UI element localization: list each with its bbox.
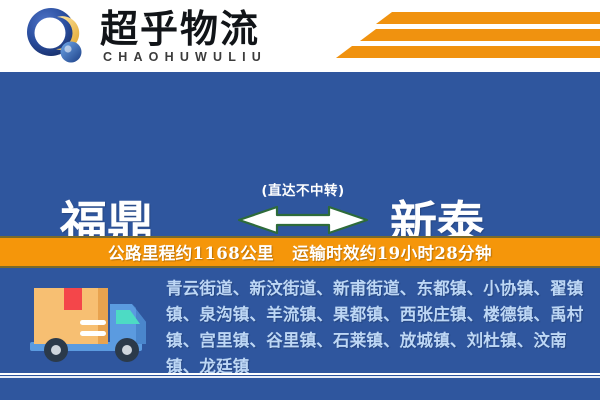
- header-bar: 超乎物流 CHAOHUWULIU: [0, 0, 600, 72]
- brand-name-en: CHAOHUWULIU: [103, 50, 267, 64]
- distance-duration-text: 公路里程约1168公里 运输时效约19小时28分钟: [108, 240, 492, 264]
- brand-logo-icon: [26, 7, 88, 65]
- stripe-1: [376, 12, 600, 24]
- delivery-truck-icon: [24, 280, 154, 372]
- coverage-area-list: 青云街道、新汶街道、新甫街道、东都镇、小协镇、翟镇镇、泉沟镇、羊流镇、果都镇、西…: [166, 276, 586, 380]
- stripe-3: [336, 46, 600, 58]
- header-stripes-decoration: [300, 0, 600, 72]
- direct-route-note: (直达不中转): [228, 182, 378, 200]
- route-section: 福鼎 (直达不中转) 【往返运输】 新泰: [0, 72, 600, 236]
- coverage-section: 青云街道、新汶街道、新甫街道、东都镇、小协镇、翟镇镇、泉沟镇、羊流镇、果都镇、西…: [0, 268, 600, 400]
- road-line-decoration: [0, 373, 600, 378]
- distance-duration-banner: 公路里程约1168公里 运输时效约19小时28分钟: [0, 236, 600, 268]
- bidirectional-arrow-icon: [228, 205, 378, 240]
- banner-canvas: 超乎物流 CHAOHUWULIU 福鼎 (直达不中转) 【往返运输】 新泰 公路…: [0, 0, 600, 400]
- stripe-2: [360, 29, 600, 41]
- brand-name-cn: 超乎物流: [100, 8, 260, 50]
